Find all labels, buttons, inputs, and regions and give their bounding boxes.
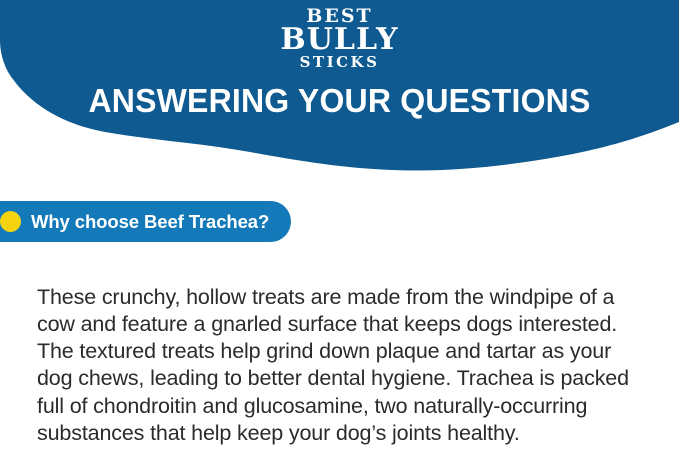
yellow-dot-icon (0, 211, 21, 232)
brand-logo: BEST BULLY STICKS (0, 7, 679, 70)
answer-paragraph: These crunchy, hollow treats are made fr… (37, 284, 649, 448)
header-banner: BEST BULLY STICKS ANSWERING YOUR QUESTIO… (0, 0, 679, 185)
question-label: Why choose Beef Trachea? (31, 211, 269, 233)
logo-line-sticks: STICKS (0, 55, 679, 70)
logo-line-bully: BULLY (0, 25, 679, 55)
question-pill: Why choose Beef Trachea? (0, 201, 291, 242)
page-title: ANSWERING YOUR QUESTIONS (10, 84, 669, 117)
